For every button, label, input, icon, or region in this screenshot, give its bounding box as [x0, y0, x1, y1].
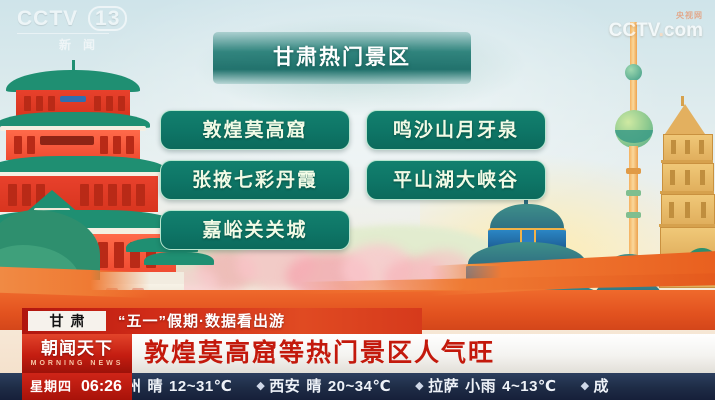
program-logo: 朝闻天下 MORNING NEWS [22, 334, 132, 373]
kicker-text: “五一”假期·数据看出游 [118, 314, 285, 329]
weather-ticker: 州晴12~31℃◆西安晴20~34℃◆拉萨小雨4~13℃◆成 [132, 373, 715, 400]
weather-condition: 小雨 [465, 379, 496, 394]
program-name-cn: 朝闻天下 [41, 340, 113, 357]
scenic-spot-label: 鸣沙山月牙泉 [393, 121, 519, 140]
scenic-spot-chip[interactable]: 平山湖大峡谷 [366, 160, 546, 200]
headline-row: 朝闻天下 MORNING NEWS 敦煌莫高窟等热门景区人气旺 [22, 334, 715, 373]
program-name-en: MORNING NEWS [31, 360, 124, 367]
weather-item: 州晴12~31℃ [132, 379, 232, 394]
weather-temperature: 12~31℃ [169, 379, 232, 394]
weather-city: 西安 [269, 379, 300, 394]
headline-text: 敦煌莫高窟等热门景区人气旺 [144, 341, 495, 366]
weather-temperature: 4~13℃ [502, 379, 556, 394]
weather-item: ◆拉萨小雨4~13℃ [415, 379, 556, 394]
orange-ribbon-left [0, 267, 150, 298]
section-title-text: 甘肃热门景区 [213, 44, 471, 72]
scenic-spot-label: 张掖七彩丹霞 [192, 171, 318, 190]
channel-subtitle: 新闻 [17, 39, 137, 51]
watermark-cctv: CCTV [609, 20, 659, 41]
kicker-label: “五一”假期·数据看出游 [118, 310, 416, 332]
weather-temperature: 20~34℃ [328, 379, 391, 394]
scenic-spot-label: 平山湖大峡谷 [393, 171, 519, 190]
scenic-spot-chip[interactable]: 张掖七彩丹霞 [160, 160, 350, 200]
oriental-pearl-tower-illustration [612, 22, 656, 262]
scenic-spot-chip[interactable]: 敦煌莫高窟 [160, 110, 350, 150]
scenic-spot-chip[interactable]: 嘉峪关关城 [160, 210, 350, 250]
weather-city: 州 [132, 379, 142, 394]
headline-bar: 敦煌莫高窟等热门景区人气旺 [132, 334, 715, 373]
watermark-com: com [664, 20, 703, 41]
bullet-icon: ◆ [256, 381, 265, 392]
location-label: 甘肃 [28, 311, 106, 331]
weather-city: 拉萨 [428, 379, 459, 394]
bullet-icon: ◆ [415, 381, 424, 392]
scenic-spot-label: 敦煌莫高窟 [202, 121, 307, 140]
time-box: 星期四 06:26 [22, 373, 132, 400]
kicker-row: 甘肃 “五一”假期·数据看出游 [22, 308, 422, 334]
weekday-text: 星期四 [30, 380, 72, 393]
cctv-bug-underline [17, 33, 109, 34]
ticker-row: 星期四 06:26 州晴12~31℃◆西安晴20~34℃◆拉萨小雨4~13℃◆成 [0, 373, 715, 400]
location-label-text: 甘肃 [43, 314, 92, 328]
watermark-cn-text: 央视网 [609, 12, 703, 20]
weather-condition: 晴 [306, 379, 322, 394]
broadcast-screen: CCTV 13 新闻 央视网 CCTV.com 甘肃热门景区 敦煌莫高窟鸣沙山月… [0, 0, 715, 400]
weather-item: ◆成 [581, 379, 621, 394]
bullet-icon: ◆ [581, 381, 590, 392]
channel-number: 13 [88, 6, 127, 31]
scenic-spot-chip[interactable]: 鸣沙山月牙泉 [366, 110, 546, 150]
watermark-en-text: CCTV.com [609, 21, 703, 40]
weather-condition: 晴 [148, 379, 164, 394]
clock-text: 06:26 [81, 379, 122, 395]
weather-city: 成 [594, 379, 610, 394]
scenic-spot-label: 嘉峪关关城 [202, 221, 307, 240]
lower-third: 甘肃 “五一”假期·数据看出游 朝闻天下 MORNING NEWS 敦煌莫高窟等… [0, 308, 715, 400]
cctv-com-watermark: 央视网 CCTV.com [609, 12, 703, 40]
cctv-wordmark: CCTV [17, 7, 78, 30]
cctv13-channel-bug: CCTV 13 新闻 [17, 6, 137, 50]
weather-item: ◆西安晴20~34℃ [256, 379, 391, 394]
